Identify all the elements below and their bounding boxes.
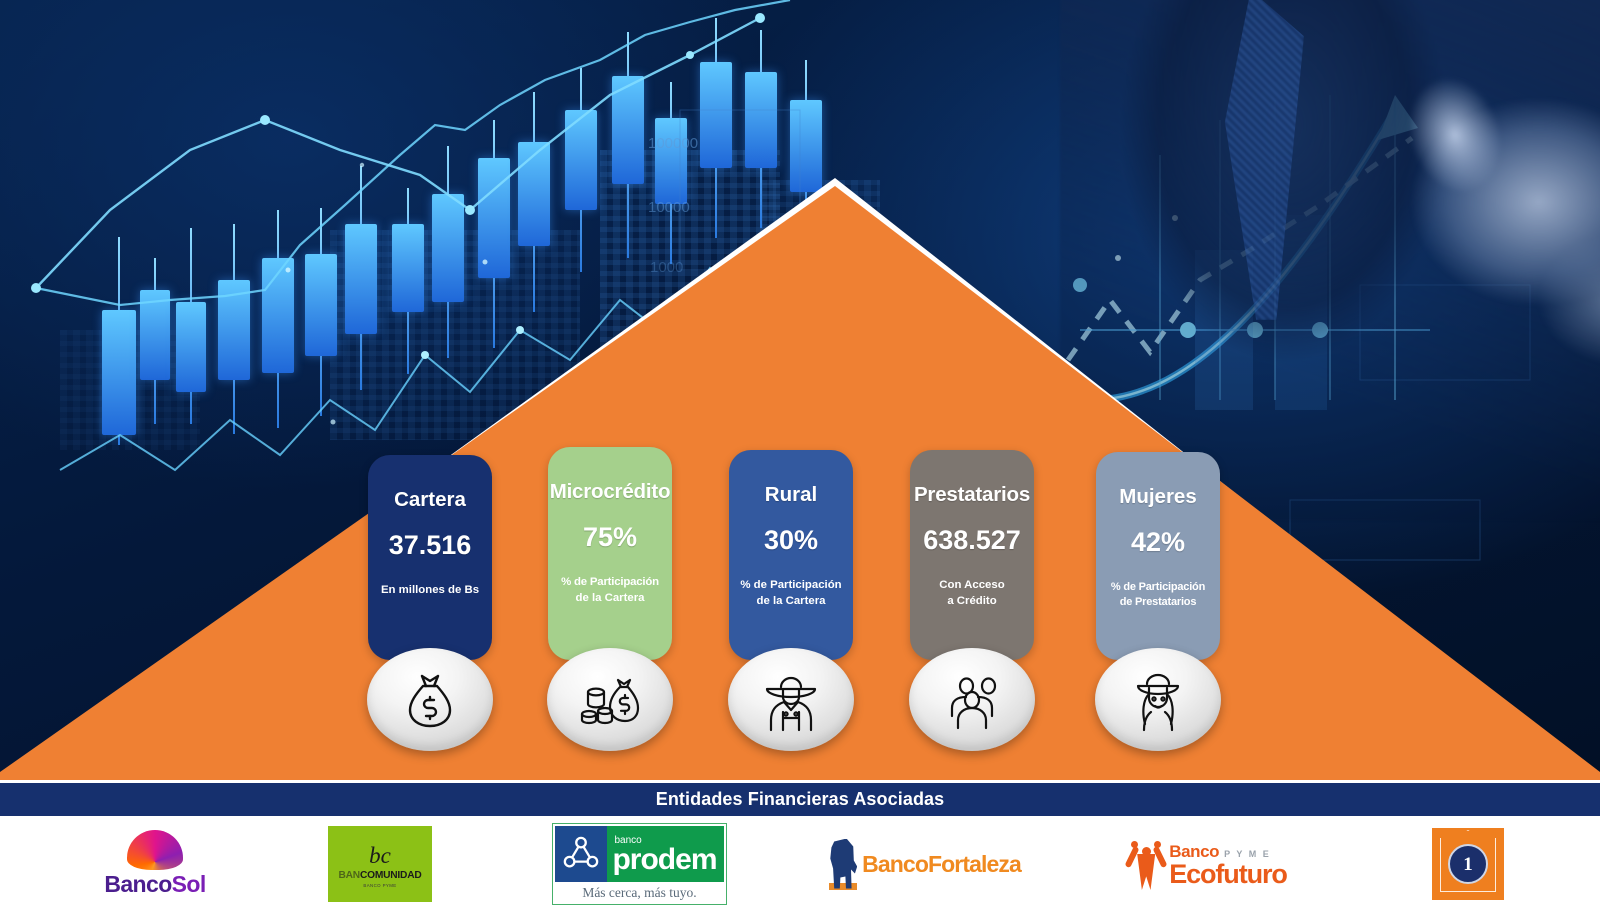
stat-card-icon-badge-rural: [728, 648, 854, 751]
stat-card-subtitle-line-2: de Prestatarios: [1096, 595, 1220, 610]
logo-vivienda[interactable]: 1: [1398, 816, 1538, 912]
ecofuturo-people-icon: [1129, 838, 1163, 890]
bancomunidad-monogram: bc: [369, 846, 391, 867]
stat-card-icon-badge-prestatarios: [909, 648, 1035, 751]
stat-card-subtitle-line-1: % de Participación: [1096, 580, 1220, 595]
prodem-molecule-icon: [562, 835, 600, 873]
bancosol-sun-icon: [127, 830, 183, 870]
bancomunidad-tagline: BANCO PYME: [363, 883, 396, 888]
institutional-seal-icon: 1: [1448, 844, 1488, 884]
coins-and-money-bag-icon: [578, 668, 642, 732]
stat-card-value: 75%: [548, 522, 672, 553]
ecofuturo-wordmark: Ecofuturo: [1169, 862, 1287, 887]
stat-card-value: 30%: [729, 525, 853, 556]
stat-card-subtitle-line-2: de la Cartera: [548, 591, 672, 606]
partner-logo-strip: BancoSol bc BANCOMUNIDAD BANCO PYME: [0, 816, 1600, 912]
footer-title: Entidades Financieras Asociadas: [656, 789, 945, 810]
stat-card-title: Cartera: [368, 489, 492, 512]
stat-card-icon-badge-mujeres: [1095, 648, 1221, 751]
stat-card-title: Rural: [729, 484, 853, 507]
footer-title-bar: Entidades Financieras Asociadas: [0, 780, 1600, 816]
money-bag-icon: [398, 668, 462, 732]
logo-bancomunidad[interactable]: bc BANCOMUNIDAD BANCO PYME: [325, 816, 435, 912]
stat-card-title: Mujeres: [1096, 486, 1220, 509]
stat-card-prestatarios[interactable]: Prestatarios 638.527 Con Acceso a Crédit…: [910, 450, 1034, 660]
fortaleza-elephant-icon: [829, 839, 857, 889]
prodem-network-icon: [555, 826, 607, 882]
stat-card-cartera[interactable]: Cartera 37.516 En millones de Bs: [368, 455, 492, 660]
logo-bancofortaleza[interactable]: BancoFortaleza: [830, 816, 1020, 912]
seal-mark: 1: [1463, 855, 1473, 874]
fortaleza-wordmark: BancoFortaleza: [862, 851, 1021, 878]
stat-card-subtitle-line-1: % de Participación: [548, 575, 672, 590]
stat-card-subtitle-line-1: En millones de Bs: [368, 583, 492, 598]
logo-bancosol[interactable]: BancoSol: [80, 816, 230, 912]
infographic-root: 100000 10000 1000: [0, 0, 1600, 912]
woman-with-hat-icon: [1126, 668, 1190, 732]
stat-card-value: 638.527: [910, 525, 1034, 556]
group-of-people-icon: [940, 668, 1004, 732]
bancosol-wordmark: BancoSol: [104, 871, 205, 898]
prodem-wordmark: prodem: [612, 846, 716, 874]
stat-card-value: 37.516: [368, 530, 492, 561]
stat-card-subtitle-line-1: Con Acceso: [910, 578, 1034, 593]
stat-card-value: 42%: [1096, 527, 1220, 558]
stat-card-mujeres[interactable]: Mujeres 42% % de Participación de Presta…: [1096, 452, 1220, 660]
stat-card-title: Microcrédito: [548, 481, 672, 504]
stat-card-microcredito[interactable]: Microcrédito 75% % de Participación de l…: [548, 447, 672, 660]
stat-card-rural[interactable]: Rural 30% % de Participación de la Carte…: [729, 450, 853, 660]
fortaleza-base-bar: [829, 883, 857, 890]
stat-card-subtitle-line-1: % de Participación: [729, 578, 853, 593]
logo-ecofuturo[interactable]: Banco P Y M E Ecofuturo: [1108, 816, 1308, 912]
stat-card-icon-badge-microcredito: [547, 648, 673, 751]
prodem-slogan: Más cerca, más tuyo.: [555, 882, 723, 902]
stat-card-icon-badge-cartera: [367, 648, 493, 751]
stat-card-subtitle-line-2: a Crédito: [910, 594, 1034, 609]
stat-card-subtitle-line-2: de la Cartera: [729, 594, 853, 609]
farmer-icon: [759, 668, 823, 732]
bancomunidad-wordmark: BANCOMUNIDAD: [338, 870, 421, 881]
logo-prodem[interactable]: banco prodem Más cerca, más tuyo.: [552, 816, 727, 912]
stat-card-title: Prestatarios: [910, 484, 1034, 507]
ecofuturo-word-pyme: P Y M E: [1224, 849, 1271, 859]
stat-card-row: Cartera 37.516 En millones de Bs Microcr…: [0, 0, 1600, 780]
